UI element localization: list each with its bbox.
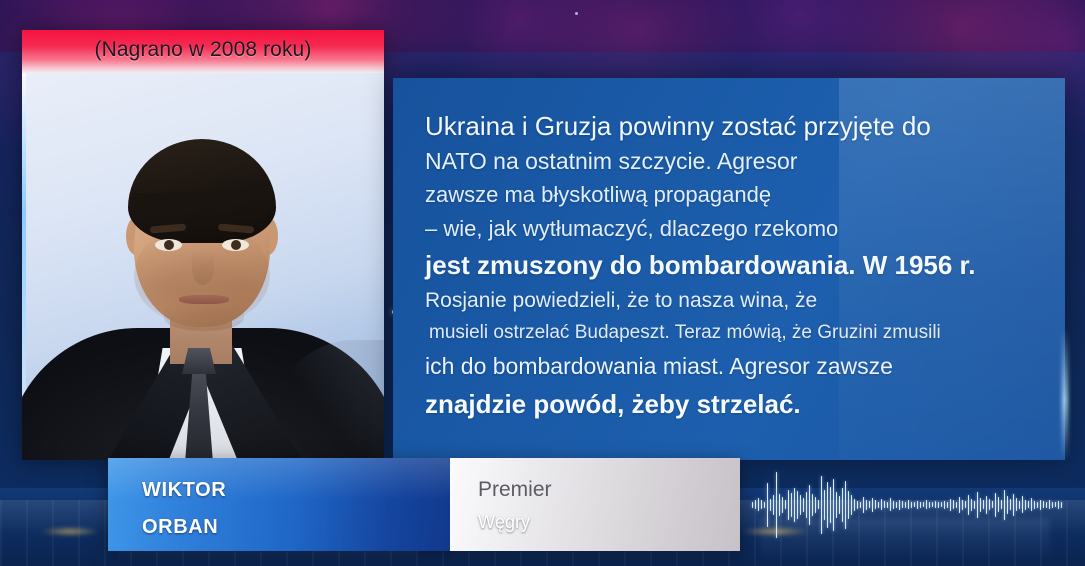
waveform-bar — [971, 499, 972, 511]
waveform-bar — [959, 497, 960, 513]
waveform-bar — [944, 501, 945, 509]
waveform-bar — [881, 499, 882, 510]
quote-line: ich do bombardowania miast. Agresor zaws… — [425, 349, 1043, 384]
speaker-name-panel: WIKTOR ORBAN — [108, 458, 450, 551]
waveform-bar — [1022, 496, 1023, 513]
quote-line: musieli ostrzelać Budapeszt. Teraz mówią… — [425, 317, 1043, 349]
waveform-bar — [1016, 498, 1017, 511]
portrait-iris-left — [164, 240, 174, 250]
audio-waveform — [752, 458, 1062, 551]
waveform-bar — [827, 482, 828, 528]
recording-date-label: (Nagrano w 2008 roku) — [95, 38, 312, 62]
waveform-bar — [767, 483, 768, 527]
waveform-bar — [896, 502, 897, 508]
waveform-bar — [878, 502, 879, 508]
waveform-bar — [818, 500, 819, 509]
waveform-bar — [890, 498, 891, 511]
waveform-bar — [800, 495, 801, 515]
waveform-bar — [794, 488, 795, 522]
waveform-bar — [899, 500, 900, 510]
waveform-bar — [911, 502, 912, 508]
waveform-bar — [995, 493, 996, 517]
waveform-bar — [836, 492, 837, 518]
portrait-iris-right — [231, 240, 241, 250]
waveform-bar — [926, 500, 927, 509]
waveform-bar — [986, 496, 987, 514]
waveform-bar — [872, 498, 873, 512]
waveform-bar — [866, 500, 867, 510]
waveform-bar — [806, 492, 807, 518]
waveform-bar — [884, 501, 885, 508]
waveform-bar — [830, 487, 831, 523]
waveform-bar — [983, 500, 984, 509]
broadcast-screen: (Nagrano w 2008 roku) — [0, 0, 1085, 566]
speaker-portrait — [22, 73, 384, 460]
waveform-bar — [776, 472, 777, 538]
waveform-bar — [938, 502, 939, 508]
waveform-bar — [854, 499, 855, 511]
waveform-bar — [980, 498, 981, 512]
portrait-mouth — [179, 295, 229, 304]
waveform-bar — [842, 488, 843, 522]
waveform-bar — [1037, 502, 1038, 508]
waveform-bar — [803, 498, 804, 512]
waveform-bar — [797, 491, 798, 519]
waveform-bar — [758, 498, 759, 511]
speaker-first-name: WIKTOR — [142, 479, 226, 502]
waveform-bar — [764, 502, 765, 508]
waveform-bar — [992, 501, 993, 508]
waveform-bar — [1007, 496, 1008, 514]
waveform-bar — [920, 502, 921, 508]
waveform-bar — [845, 481, 846, 529]
waveform-bar — [1031, 498, 1032, 511]
waveform-bar — [905, 502, 906, 508]
waveform-bar — [821, 476, 822, 534]
waveform-bar — [1034, 501, 1035, 509]
waveform-bar — [989, 499, 990, 510]
quote-line: zawsze ma błyskotliwą propagandę — [425, 178, 1043, 212]
waveform-bar — [848, 491, 849, 519]
waveform-bar — [935, 501, 936, 508]
portrait-chin — [164, 305, 244, 331]
waveform-bar — [977, 492, 978, 518]
waveform-bar — [1058, 501, 1059, 509]
waveform-bar — [1028, 501, 1029, 508]
waveform-bar — [1043, 501, 1044, 508]
speaker-photo-panel: (Nagrano w 2008 roku) — [22, 30, 384, 460]
waveform-bar — [761, 500, 762, 509]
quote-line: Ukraina i Gruzja powinny zostać przyjęte… — [425, 108, 1043, 144]
waveform-bar — [902, 501, 903, 508]
waveform-bar — [863, 497, 864, 513]
waveform-bar — [908, 500, 909, 509]
speaker-last-name: ORBAN — [142, 516, 218, 539]
waveform-bar — [974, 501, 975, 509]
speaker-role-panel: Premier Węgry — [450, 458, 740, 551]
quote-line: – wie, jak wytłumaczyć, dlaczego rzekomo — [425, 212, 1043, 246]
quote-line: znajdzie powód, żeby strzelać. — [425, 384, 1043, 424]
waveform-bar — [1061, 502, 1062, 508]
waveform-bar — [1040, 500, 1041, 510]
waveform-bar — [923, 502, 924, 507]
waveform-bar — [932, 502, 933, 507]
waveform-bar — [956, 502, 957, 508]
waveform-bar — [785, 500, 786, 509]
waveform-bar — [755, 500, 756, 509]
waveform-bar — [791, 493, 792, 517]
speaker-role: Premier — [478, 478, 552, 502]
waveform-bar — [941, 502, 942, 507]
waveform-bar — [788, 490, 789, 520]
waveform-bar — [812, 494, 813, 516]
waveform-bar — [824, 490, 825, 520]
waveform-bar — [953, 500, 954, 509]
waveform-bar — [773, 495, 774, 515]
waveform-bar — [917, 501, 918, 509]
waveform-bar — [851, 495, 852, 515]
portrait-nose — [192, 251, 214, 285]
waveform-bar — [833, 479, 834, 531]
waveform-bar — [1001, 500, 1002, 509]
waveform-bar — [893, 501, 894, 509]
waveform-bar — [875, 500, 876, 509]
waveform-bar — [1004, 490, 1005, 520]
waveform-bar — [998, 497, 999, 512]
waveform-bar — [914, 502, 915, 507]
quote-line: NATO na ostatnim szczycie. Agresor — [425, 144, 1043, 178]
waveform-bar — [929, 502, 930, 508]
waveform-bar — [965, 501, 966, 508]
waveform-bar — [887, 502, 888, 508]
waveform-bar — [1025, 500, 1026, 510]
waveform-bar — [1010, 499, 1011, 510]
quote-line: Rosjanie powiedzieli, że to nasza wina, … — [425, 284, 1043, 317]
waveform-bar — [860, 502, 861, 508]
waveform-bar — [857, 501, 858, 509]
waveform-bar — [782, 497, 783, 513]
waveform-bar — [1052, 502, 1053, 508]
quote-line: jest zmuszony do bombardowania. W 1956 r… — [425, 246, 1043, 284]
waveform-bar — [1046, 502, 1047, 508]
waveform-bar — [1019, 501, 1020, 509]
waveform-bar — [1013, 494, 1014, 516]
waveform-bar — [869, 501, 870, 508]
waveform-bar — [947, 502, 948, 508]
recording-date-banner: (Nagrano w 2008 roku) — [22, 30, 384, 73]
quote-text-block: Ukraina i Gruzja powinny zostać przyjęte… — [393, 78, 1065, 460]
quote-panel: Ukraina i Gruzja powinny zostać przyjęte… — [393, 78, 1065, 460]
waveform-bar — [779, 494, 780, 516]
waveform-bar — [962, 500, 963, 510]
lower-third: WIKTOR ORBAN Premier Węgry — [108, 458, 740, 551]
waveform-bar — [752, 502, 753, 508]
waveform-bar — [968, 495, 969, 515]
waveform-bar — [1055, 502, 1056, 507]
waveform-bar — [815, 497, 816, 513]
speaker-country: Węgry — [478, 512, 530, 533]
waveform-bar — [950, 499, 951, 511]
waveform-bar — [1049, 500, 1050, 509]
waveform-bar — [839, 496, 840, 514]
waveform-bar — [809, 485, 810, 525]
waveform-bar — [770, 499, 771, 511]
